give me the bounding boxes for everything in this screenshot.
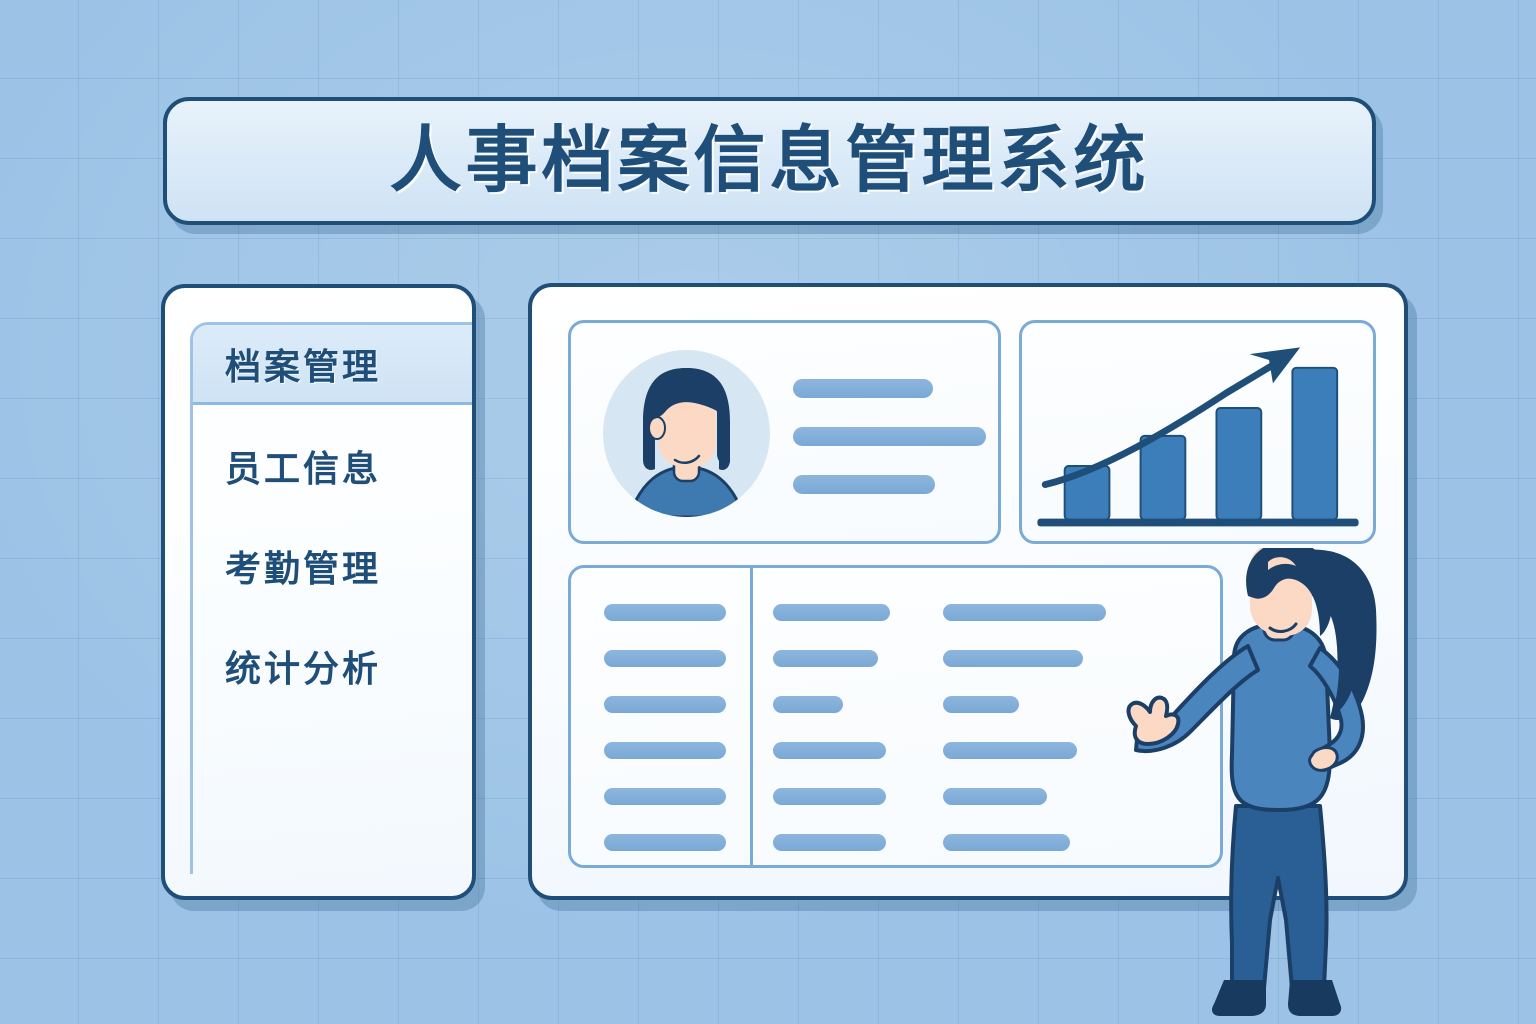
table-row (773, 742, 886, 759)
table-row (943, 788, 1047, 805)
table-row (943, 742, 1077, 759)
sidebar-item-label: 统计分析 (225, 640, 381, 692)
table-row (773, 604, 890, 621)
chart-bar (1216, 408, 1261, 520)
table-row (604, 650, 726, 667)
table-row (604, 696, 726, 713)
profile-line (793, 475, 935, 494)
sidebar-panel: 档案管理 员工信息 考勤管理 统计分析 (161, 284, 476, 900)
sidebar-item-label: 档案管理 (225, 338, 381, 390)
table-column-divider (750, 568, 753, 865)
table-column-middle (773, 604, 890, 880)
sidebar-item-employee-info[interactable]: 员工信息 (193, 427, 472, 505)
chart-bar (1292, 368, 1337, 520)
profile-placeholder-lines (793, 379, 973, 523)
table-row (773, 696, 843, 713)
app-title-banner: 人事档案信息管理系统 (163, 97, 1376, 225)
sidebar-menu-list: 档案管理 员工信息 考勤管理 统计分析 (190, 322, 472, 874)
profile-line (793, 379, 933, 398)
table-row (604, 834, 726, 851)
sidebar-item-label: 考勤管理 (225, 540, 381, 592)
table-row (773, 788, 886, 805)
profile-line (793, 427, 986, 446)
app-background: 人事档案信息管理系统 档案管理 员工信息 考勤管理 统计分析 (0, 0, 1536, 1024)
table-row (943, 696, 1019, 713)
table-row (943, 650, 1083, 667)
sidebar-item-archive-management[interactable]: 档案管理 (193, 325, 472, 405)
growth-bar-chart-icon (1022, 323, 1373, 541)
sidebar-item-label: 员工信息 (225, 440, 381, 492)
table-column-left (604, 604, 726, 880)
employee-profile-card[interactable] (568, 320, 1001, 544)
sidebar-item-attendance-management[interactable]: 考勤管理 (193, 527, 472, 605)
chart-bar (1141, 436, 1186, 520)
table-row (604, 604, 726, 621)
table-row (773, 650, 878, 667)
table-row (604, 742, 726, 759)
user-avatar-icon (603, 350, 770, 517)
sidebar-item-statistics-analysis[interactable]: 统计分析 (193, 627, 472, 705)
statistics-chart-card[interactable] (1019, 320, 1376, 544)
presenter-illustration (1124, 548, 1444, 1024)
table-row (773, 834, 886, 851)
table-column-right (943, 604, 1106, 880)
table-row (943, 604, 1106, 621)
page-title: 人事档案信息管理系统 (389, 125, 1149, 197)
table-row (604, 788, 726, 805)
table-row (943, 834, 1070, 851)
